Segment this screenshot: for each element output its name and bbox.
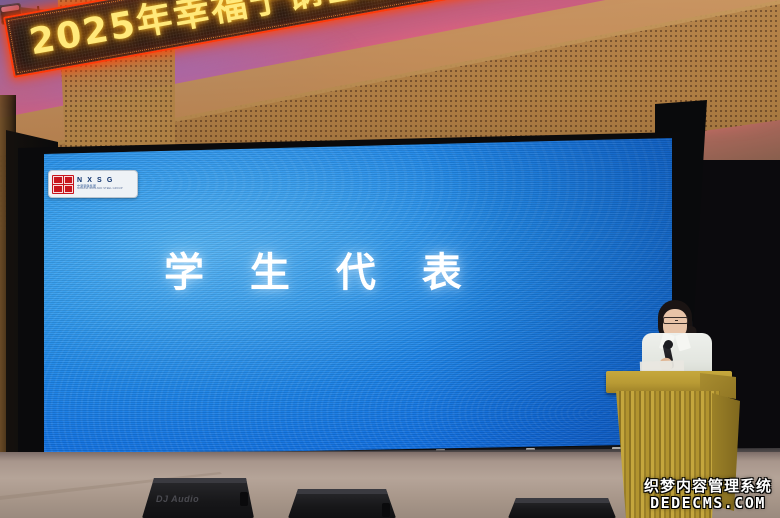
logo-seal-quadrant <box>53 185 63 193</box>
logo-subtitle-en: NINGXIA IRON AND STEEL GROUP <box>77 188 123 191</box>
ningxia-steel-logo: N X S G 宁夏钢铁集团 NINGXIA IRON AND STEEL GR… <box>48 170 138 198</box>
stage-monitor-speaker <box>288 489 396 518</box>
glasses-icon <box>663 317 688 324</box>
monitor-brand-label: DJ Audio <box>156 494 199 504</box>
logo-seal-icon <box>52 175 74 194</box>
stage-monitor-speaker: DJ Audio <box>142 478 254 518</box>
logo-seal-quadrant <box>64 176 74 184</box>
led-screen: N X S G 宁夏钢铁集团 NINGXIA IRON AND STEEL GR… <box>44 138 672 456</box>
logo-seal-quadrant <box>53 176 63 184</box>
monitor-top-edge <box>288 489 396 494</box>
microphone-capsule <box>664 340 673 349</box>
logo-abbreviation: N X S G <box>77 177 123 184</box>
monitor-handle <box>382 503 390 517</box>
monitor-top-edge <box>142 478 254 483</box>
screen-vignette <box>44 138 672 456</box>
logo-text-block: N X S G 宁夏钢铁集团 NINGXIA IRON AND STEEL GR… <box>77 177 123 191</box>
screen-title-text: 学 生 代 表 <box>164 250 478 296</box>
podium-front-panel <box>616 391 720 518</box>
logo-seal-quadrant <box>64 185 74 193</box>
monitor-top-edge <box>508 498 616 503</box>
monitor-handle <box>240 492 248 506</box>
stage-monitor-speaker <box>508 498 616 518</box>
lamp-lens <box>1 5 20 12</box>
stage-photo-scene: 2025年幸福宁钢基金教育助学金发放仪式 N X S G 宁夏钢铁集团 NING… <box>0 0 780 518</box>
